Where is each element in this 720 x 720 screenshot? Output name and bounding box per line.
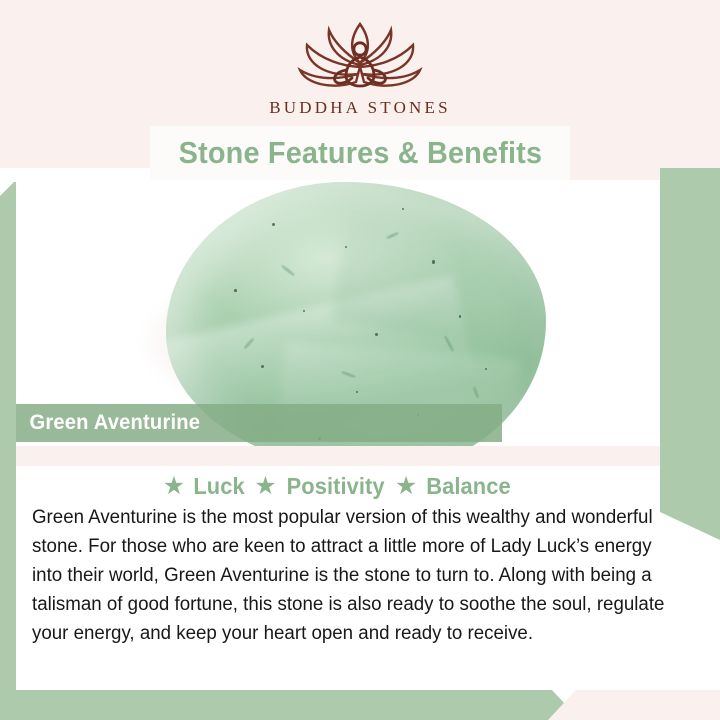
feature-label: Luck [193,473,244,500]
description-text: Green Aventurine is the most popular ver… [32,503,666,648]
product-name: Green Aventurine [16,411,200,435]
star-icon: ★ [254,474,276,499]
feature-label: Positivity [286,473,384,500]
bottom-right-pink-corner [548,690,720,720]
feature-item-luck: ★ Luck [163,473,247,500]
star-icon: ★ [395,474,417,499]
feature-item-positivity: ★ Positivity [254,473,387,500]
right-green-border [660,168,720,540]
product-label-band: Green Aventurine [16,404,502,442]
left-green-border [0,182,16,704]
lotus-meditation-figure-icon [276,18,444,96]
brand-name: BUDDHA STONES [0,98,720,118]
infographic-card: BUDDHA STONES Stone Features & Benefits [0,0,720,720]
page-title: Stone Features & Benefits [178,135,542,171]
feature-list: ★ Luck ★ Positivity ★ Balance [16,470,660,502]
brand-logo: BUDDHA STONES [0,18,720,118]
star-icon: ★ [163,474,185,499]
feature-label: Balance [427,473,511,500]
pink-divider [16,446,660,466]
bottom-green-border [0,690,580,720]
feature-item-balance: ★ Balance [395,473,513,500]
title-panel: Stone Features & Benefits [150,126,570,180]
